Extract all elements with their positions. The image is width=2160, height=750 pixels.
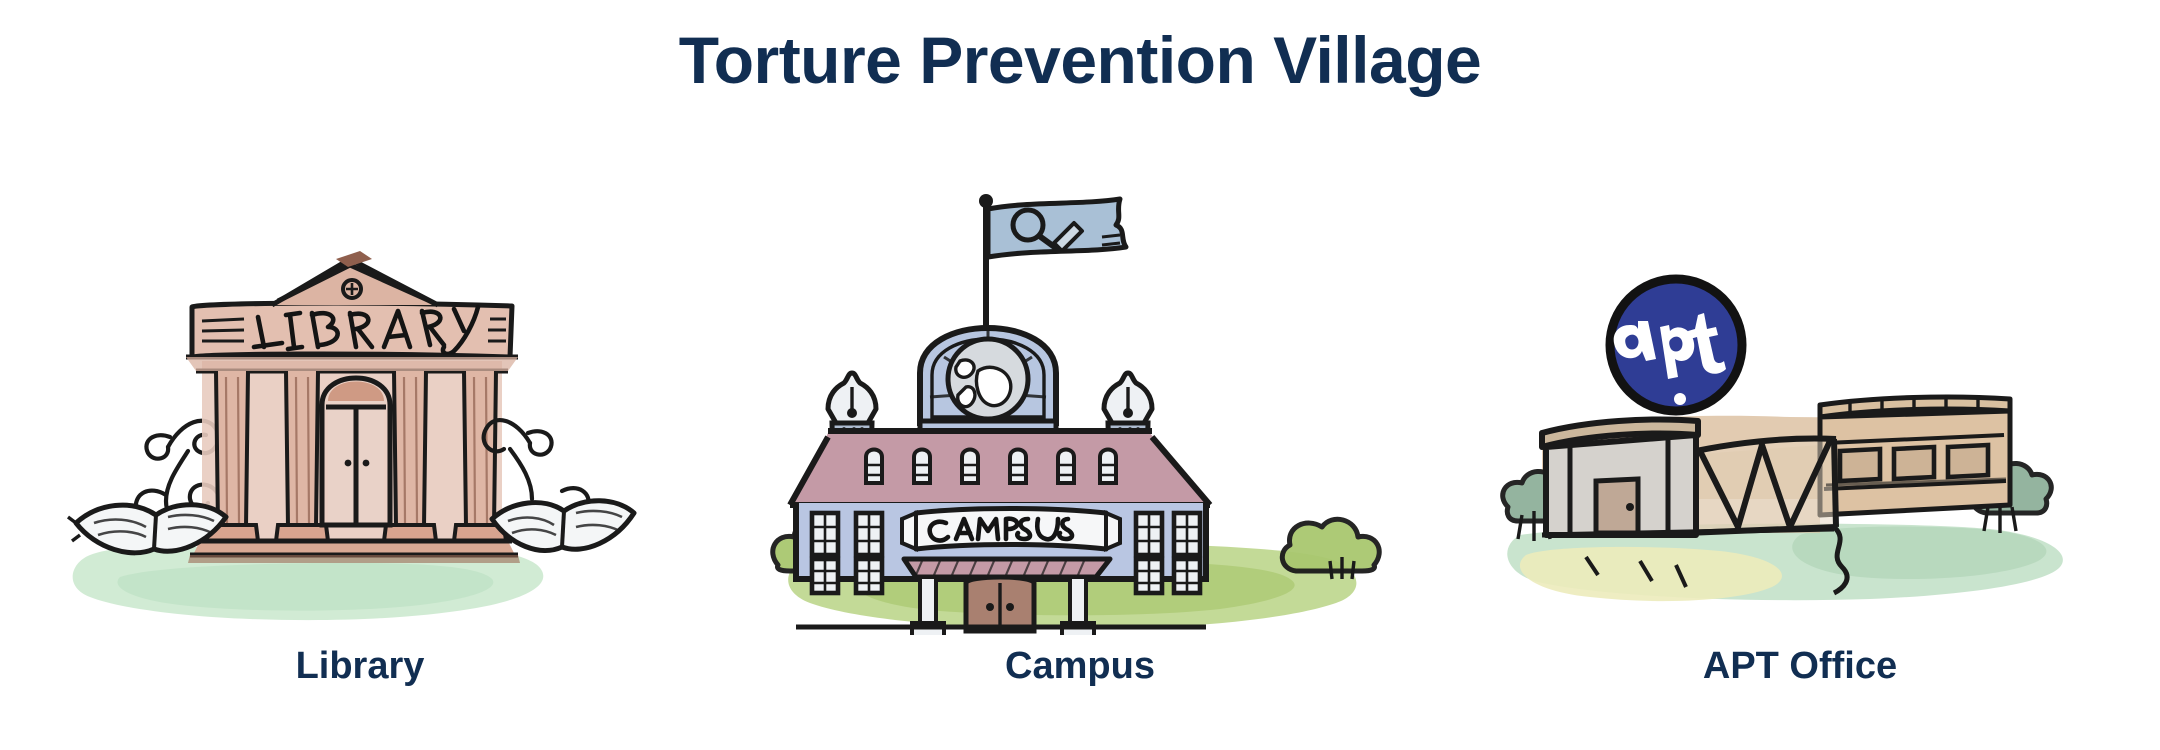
apt-breezeway-truss xyxy=(1686,439,1836,536)
campus-clock-tower xyxy=(920,328,1056,431)
apt-door-handle xyxy=(1626,503,1634,511)
campus-door-handle-right xyxy=(1006,603,1014,611)
village-cell-apt-office[interactable]: APT Office xyxy=(1440,165,2160,687)
campus-banner-tail-left xyxy=(902,513,916,549)
village-cell-library[interactable]: Library xyxy=(0,165,720,687)
campus-building-illustration xyxy=(770,165,1390,635)
campus-nib-right-hole xyxy=(1123,408,1133,418)
apt-logo-sign xyxy=(1610,279,1742,411)
library-column-2 xyxy=(286,371,318,527)
apt-office-illustration xyxy=(1490,235,2110,635)
apt-logo-circle xyxy=(1610,279,1742,411)
library-open-book-right xyxy=(492,501,634,551)
apt-front-block xyxy=(1542,420,1698,536)
village-cell-label-campus: Campus xyxy=(1005,647,1155,687)
library-illustration-wrap[interactable] xyxy=(30,165,690,635)
library-cornice-wash xyxy=(186,357,518,371)
library-step-shadow xyxy=(188,555,520,563)
village-cell-campus[interactable]: Campus xyxy=(720,165,1440,687)
village-cell-label-apt-office: APT Office xyxy=(1703,647,1897,687)
campus-door-handle-left xyxy=(986,603,994,611)
campus-roof-wash xyxy=(794,433,1206,503)
village-cell-label-library: Library xyxy=(296,647,425,687)
campus-illustration-wrap[interactable] xyxy=(750,165,1410,635)
campus-flagpole-finial xyxy=(979,194,993,208)
torture-prevention-village-page: Torture Prevention Village xyxy=(0,0,2160,750)
library-door-handle-left xyxy=(345,460,352,467)
page-title: Torture Prevention Village xyxy=(0,22,2160,98)
library-door-handle-right xyxy=(363,460,370,467)
campus-banner-tail-right xyxy=(1106,513,1120,549)
library-column-1 xyxy=(216,371,248,527)
campus-nib-left-hole xyxy=(847,408,857,418)
apt-ground-sand-wash xyxy=(1520,547,1782,601)
library-building-illustration xyxy=(50,205,670,635)
apt-right-wing-windows xyxy=(1840,445,1988,481)
campus-banner xyxy=(902,509,1120,550)
village-grid: Library xyxy=(0,165,2160,687)
apt-office-illustration-wrap[interactable] xyxy=(1470,165,2130,635)
campus-flag xyxy=(979,194,1126,333)
library-column-3 xyxy=(394,371,426,527)
apt-right-wing xyxy=(1820,397,2010,515)
